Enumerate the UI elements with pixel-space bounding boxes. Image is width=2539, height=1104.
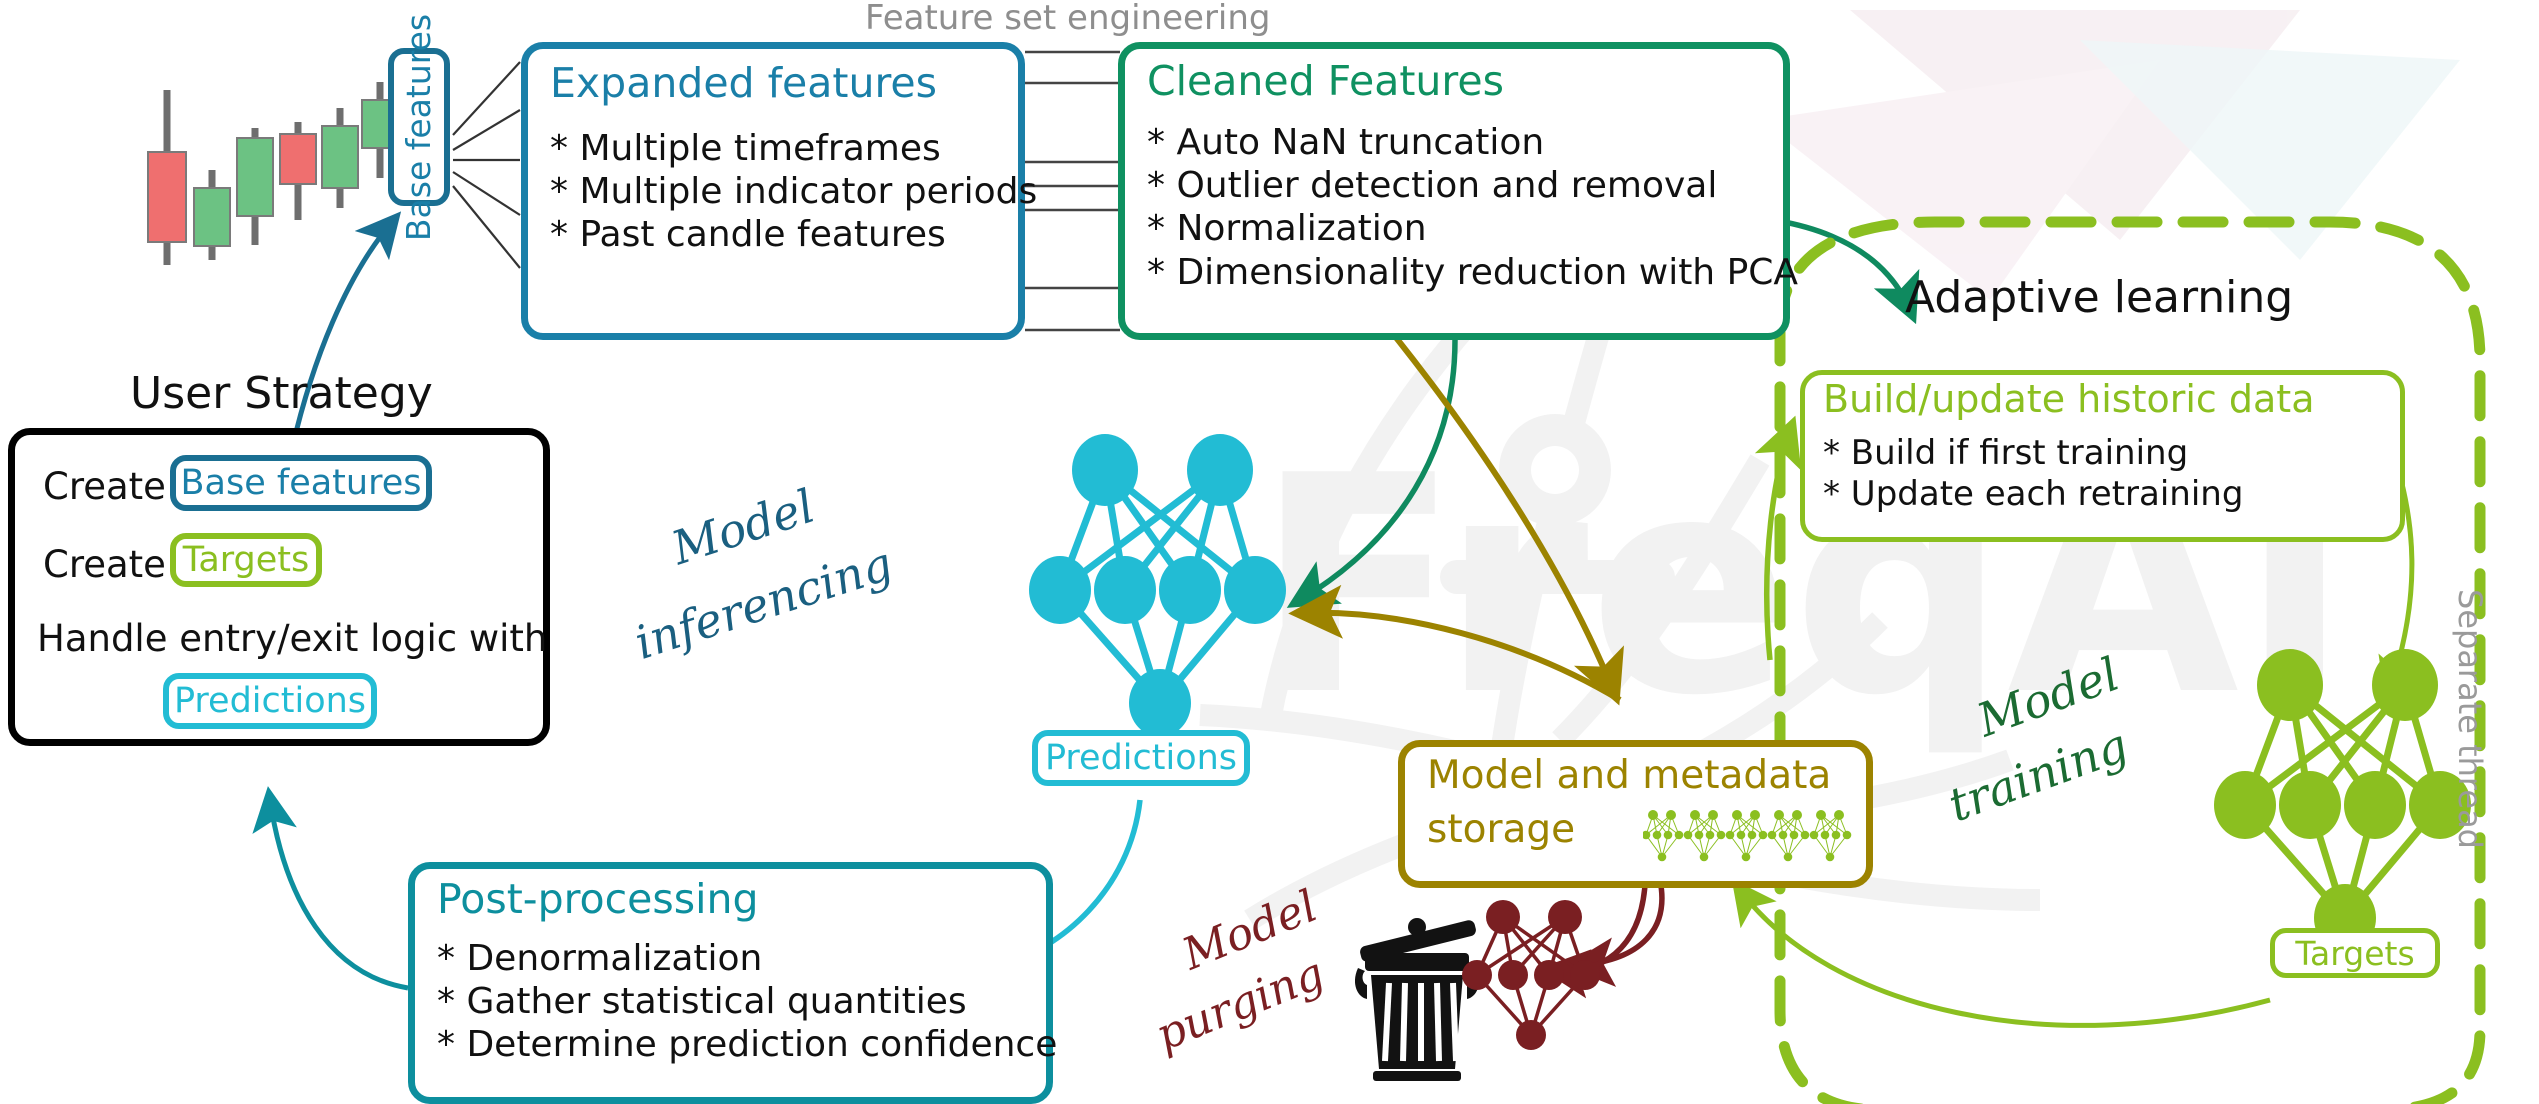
neural-network-icon bbox=[1020, 425, 1320, 745]
user-strategy-base-features-label: Base features bbox=[181, 463, 422, 503]
targets-tag-label: Targets bbox=[2295, 934, 2414, 973]
model-purging-line2: purging bbox=[1149, 948, 1332, 1061]
model-training-line2: training bbox=[1941, 718, 2134, 832]
model-storage-title-line1: Model and metadata bbox=[1427, 755, 1831, 797]
expanded-features-bullets: * Multiple timeframes * Multiple indicat… bbox=[550, 127, 1037, 257]
cleaned-features-bullet-1: * Outlier detection and removal bbox=[1147, 164, 1798, 207]
predictions-tag[interactable]: Predictions bbox=[1032, 730, 1250, 786]
neural-network-row-icon bbox=[1643, 807, 1858, 869]
user-strategy-create-label-2: Create bbox=[43, 543, 166, 586]
user-strategy-box[interactable]: Create Base features Create Targets Hand… bbox=[8, 428, 550, 746]
diagram-canvas: FreqAI bbox=[0, 0, 2539, 1104]
cleaned-features-bullet-0: * Auto NaN truncation bbox=[1147, 121, 1798, 164]
user-strategy-create-label-1: Create bbox=[43, 465, 166, 508]
model-inferencing-line2: inferencing bbox=[628, 536, 899, 670]
model-storage-box[interactable]: Model and metadata storage bbox=[1398, 740, 1873, 888]
feature-set-engineering-label: Feature set engineering bbox=[865, 0, 1271, 38]
candlestick-chart-icon bbox=[140, 60, 400, 290]
post-processing-bullets: * Denormalization * Gather statistical q… bbox=[437, 937, 1057, 1067]
neural-network-icon bbox=[1455, 895, 1615, 1055]
post-processing-title: Post-processing bbox=[437, 877, 759, 921]
build-update-bullet-0: * Build if first training bbox=[1823, 433, 2243, 474]
user-strategy-base-features-tag[interactable]: Base features bbox=[170, 455, 432, 511]
predictions-tag-label: Predictions bbox=[1045, 738, 1237, 778]
cleaned-features-box[interactable]: Cleaned Features * Auto NaN truncation *… bbox=[1118, 42, 1790, 340]
user-strategy-targets-tag[interactable]: Targets bbox=[170, 533, 322, 587]
build-update-bullet-1: * Update each retraining bbox=[1823, 474, 2243, 515]
user-strategy-entry-exit-text: Handle entry/exit logic with bbox=[37, 617, 547, 660]
targets-tag[interactable]: Targets bbox=[2270, 928, 2440, 978]
cleaned-features-bullets: * Auto NaN truncation * Outlier detectio… bbox=[1147, 121, 1798, 294]
separate-thread-label: Separate thread bbox=[2460, 560, 2500, 880]
user-strategy-targets-label: Targets bbox=[183, 540, 310, 580]
user-strategy-title: User Strategy bbox=[130, 368, 433, 419]
post-processing-bullet-2: * Determine prediction confidence bbox=[437, 1023, 1057, 1066]
model-storage-title-line2: storage bbox=[1427, 809, 1575, 851]
separate-thread-text: Separate thread bbox=[2451, 589, 2489, 849]
expanded-features-bullet-0: * Multiple timeframes bbox=[550, 127, 1037, 170]
post-processing-bullet-0: * Denormalization bbox=[437, 937, 1057, 980]
base-features-tag[interactable]: Base features bbox=[388, 48, 450, 206]
user-strategy-predictions-tag[interactable]: Predictions bbox=[163, 673, 377, 729]
user-strategy-predictions-label: Predictions bbox=[174, 681, 366, 721]
expanded-features-bullet-1: * Multiple indicator periods bbox=[550, 170, 1037, 213]
expanded-features-title: Expanded features bbox=[550, 61, 937, 105]
post-processing-bullet-1: * Gather statistical quantities bbox=[437, 980, 1057, 1023]
expanded-features-box[interactable]: Expanded features * Multiple timeframes … bbox=[521, 42, 1025, 340]
adaptive-learning-label: Adaptive learning bbox=[1905, 272, 2293, 323]
cleaned-features-bullet-3: * Dimensionality reduction with PCA bbox=[1147, 251, 1798, 294]
cleaned-features-title: Cleaned Features bbox=[1147, 59, 1504, 103]
base-features-tag-label: Base features bbox=[400, 13, 439, 240]
expanded-features-bullet-2: * Past candle features bbox=[550, 213, 1037, 256]
model-inferencing-label: Model inferencing bbox=[640, 500, 970, 680]
cleaned-features-bullet-2: * Normalization bbox=[1147, 207, 1798, 250]
build-update-bullets: * Build if first training * Update each … bbox=[1823, 433, 2243, 515]
build-update-historic-data-box[interactable]: Build/update historic data * Build if fi… bbox=[1800, 370, 2405, 542]
build-update-title: Build/update historic data bbox=[1823, 379, 2315, 420]
post-processing-box[interactable]: Post-processing * Denormalization * Gath… bbox=[408, 862, 1053, 1104]
